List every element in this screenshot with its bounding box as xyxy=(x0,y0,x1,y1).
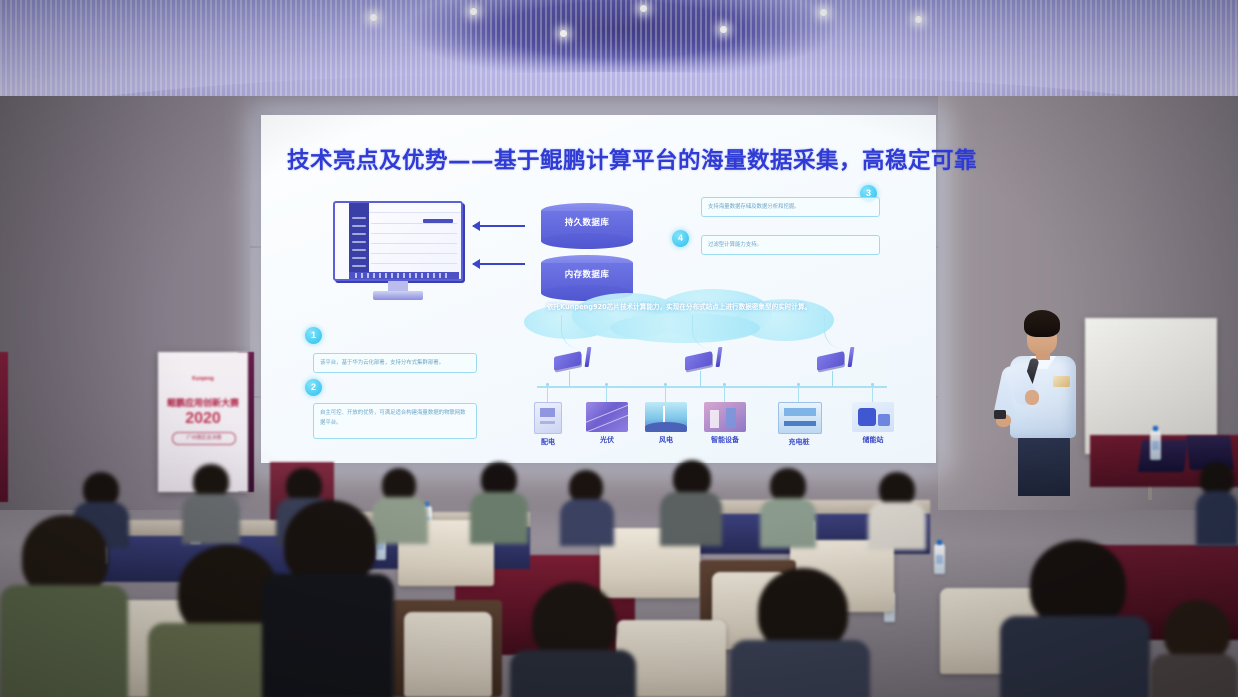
guangfu-icon xyxy=(586,402,628,432)
chongdianzhuang-icon xyxy=(778,402,822,434)
peidian-icon xyxy=(534,402,562,434)
presenter-hair xyxy=(1024,310,1060,337)
presenter xyxy=(996,310,1092,496)
fengdian-icon xyxy=(645,402,687,432)
ceiling-lights xyxy=(0,0,1238,60)
chair xyxy=(404,612,492,697)
arrow-to-monitor-1 xyxy=(473,225,525,227)
badge-2: 2 xyxy=(305,379,322,396)
fengdian-label: 风电 xyxy=(645,435,687,445)
audience-member xyxy=(182,464,240,542)
audience-member-front xyxy=(730,568,870,697)
device-peidian: 配电 xyxy=(527,402,569,447)
persistent-database: 持久数据库 xyxy=(541,203,633,249)
device-fengdian: 风电 xyxy=(645,402,687,445)
audience-member-front xyxy=(510,582,636,697)
memory-database-label: 内存数据库 xyxy=(541,268,633,280)
audience-member xyxy=(1196,462,1238,544)
photo-scene: 技术亮点及优势——基于鲲鹏计算平台的海量数据采集，高稳定可靠 xyxy=(0,0,1238,697)
audience-member xyxy=(660,460,722,544)
audience-member xyxy=(868,472,926,548)
edge-gateway-2 xyxy=(685,347,723,373)
zhineng-shebei-label: 智能设备 xyxy=(704,435,746,445)
projection-screen: 技术亮点及优势——基于鲲鹏计算平台的海量数据采集，高稳定可靠 xyxy=(261,115,936,463)
slide-title: 技术亮点及优势——基于鲲鹏计算平台的海量数据采集，高稳定可靠 xyxy=(287,143,917,175)
device-chunengzhan: 储能站 xyxy=(852,402,894,445)
audience-member-front xyxy=(0,515,128,697)
standee-year: 2020 xyxy=(158,410,248,428)
standee-title: 鲲鹏应用创新大赛 xyxy=(158,396,248,409)
gateway-drop-3 xyxy=(832,371,833,386)
edge-gateway-3 xyxy=(817,347,855,373)
arrow-to-monitor-2 xyxy=(473,263,525,265)
peidian-label: 配电 xyxy=(527,437,569,447)
badge-4: 4 xyxy=(672,230,689,247)
gateway-drop-2 xyxy=(700,371,701,386)
zhineng-shebei-icon xyxy=(704,402,746,432)
audience-member-front xyxy=(1150,600,1238,697)
bottle-av xyxy=(1150,430,1161,460)
callout-2: 自主可控、开放的优势，可满足适合构建海量数据的物联网数据平台。 xyxy=(313,403,477,439)
chongdianzhuang-label: 充电桩 xyxy=(778,437,820,447)
audience-member-front xyxy=(1000,540,1150,697)
device-chongdianzhuang: 充电桩 xyxy=(778,402,820,447)
badge-1: 1 xyxy=(305,327,322,344)
cloud-text: 依托Kunpeng920芯片技术计算能力，实现在分布式站点上进行数据密集型的实时… xyxy=(538,301,820,314)
audience-member-front xyxy=(262,500,394,697)
callout-4: 过滤型计算能力支持。 xyxy=(701,235,880,255)
presenter-right-hand xyxy=(1025,390,1039,405)
edge-gateway-1 xyxy=(554,347,592,373)
presentation-clicker xyxy=(994,410,1006,419)
dashboard-monitor xyxy=(333,201,463,281)
audience-member xyxy=(760,468,816,546)
callout-3: 支持海量数据存储及数据分析和挖掘。 xyxy=(701,197,880,217)
device-bus-line xyxy=(537,386,887,388)
audience-member xyxy=(470,462,528,542)
callout-1: 该平台，基于华为云化部署，支持分布式集群部署。 xyxy=(313,353,477,373)
chunengzhan-icon xyxy=(852,402,894,432)
device-guangfu: 光伏 xyxy=(586,402,628,445)
standee-backdrop-left xyxy=(0,352,8,502)
presenter-badge xyxy=(1053,376,1070,387)
guangfu-label: 光伏 xyxy=(586,435,628,445)
audience-member xyxy=(560,470,614,544)
device-zhineng-shebei: 智能设备 xyxy=(704,402,746,445)
standee-brand: Kunpeng xyxy=(158,376,248,382)
gateway-drop-1 xyxy=(569,371,570,386)
presenter-trousers xyxy=(1018,434,1070,496)
laptop-1 xyxy=(1138,440,1188,472)
chunengzhan-label: 储能站 xyxy=(852,435,894,445)
water-bottle xyxy=(934,544,945,574)
standee-region: 广州赛区总决赛 xyxy=(172,432,236,445)
persistent-database-label: 持久数据库 xyxy=(541,216,633,228)
